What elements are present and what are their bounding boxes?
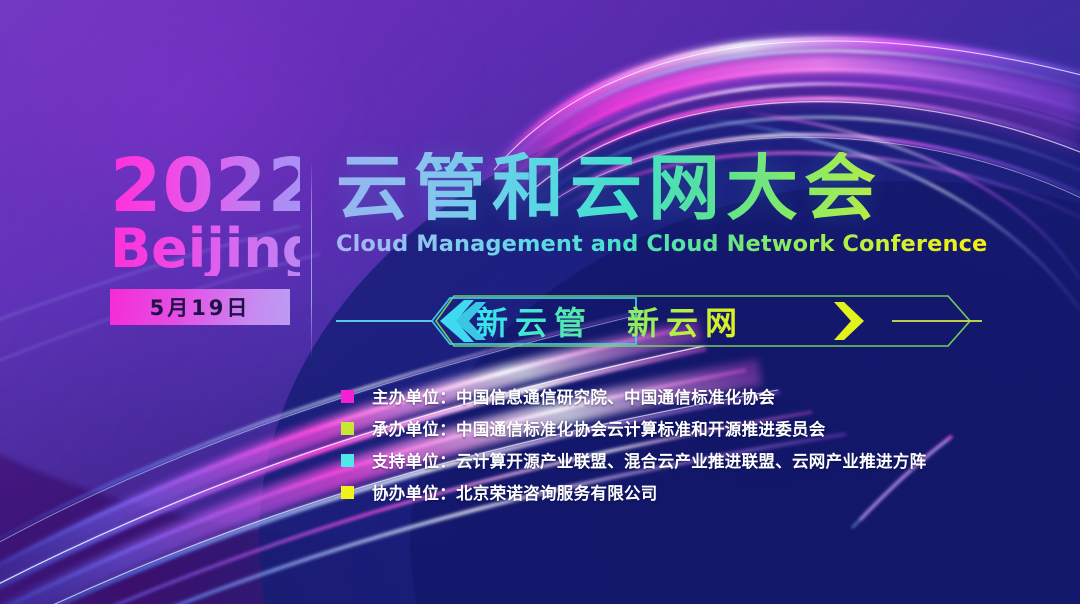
organizer-text: 支持单位：云计算开源产业联盟、混合云产业推进联盟、云网产业推进方阵 (372, 448, 926, 472)
list-item: 主办单位：中国信息通信研究院、中国通信标准化协会 (341, 380, 981, 412)
organizer-list: 主办单位：中国信息通信研究院、中国通信标准化协会 承办单位：中国通信标准化协会云… (341, 380, 981, 508)
organizer-text: 承办单位：中国通信标准化协会云计算标准和开源推进委员会 (372, 416, 826, 440)
conference-title-english: Cloud Management and Cloud Network Confe… (336, 231, 996, 257)
bullet-square-icon (341, 422, 354, 435)
bullet-square-icon (341, 454, 354, 467)
slogan-text: 新云管 新云网 (476, 294, 744, 348)
event-year: 2022 (110, 152, 300, 220)
slogan-right-part: 新云网 (627, 298, 744, 344)
chevron-right-icon (834, 302, 864, 340)
list-item: 协办单位：北京荣诺咨询服务有限公司 (341, 476, 981, 508)
slogan-banner: 新云管 新云网 (336, 294, 982, 348)
slogan-left-part: 新云管 (476, 298, 593, 344)
bullet-square-icon (341, 390, 354, 403)
vertical-divider (311, 162, 312, 358)
event-date-block: 2022 Beijing 5月19日 (110, 152, 300, 325)
organizer-text: 协办单位：北京荣诺咨询服务有限公司 (372, 480, 658, 504)
poster-content: 2022 Beijing 5月19日 云管和云网大会 Cloud Managem… (0, 0, 1080, 604)
conference-title-chinese: 云管和云网大会 (336, 152, 996, 225)
title-block: 云管和云网大会 Cloud Management and Cloud Netwo… (336, 152, 996, 257)
event-city: Beijing (110, 222, 300, 276)
conference-poster: 2022 Beijing 5月19日 云管和云网大会 Cloud Managem… (0, 0, 1080, 604)
list-item: 支持单位：云计算开源产业联盟、混合云产业推进联盟、云网产业推进方阵 (341, 444, 981, 476)
list-item: 承办单位：中国通信标准化协会云计算标准和开源推进委员会 (341, 412, 981, 444)
organizer-text: 主办单位：中国信息通信研究院、中国通信标准化协会 (372, 384, 775, 408)
event-date-badge: 5月19日 (110, 289, 290, 325)
bullet-square-icon (341, 486, 354, 499)
